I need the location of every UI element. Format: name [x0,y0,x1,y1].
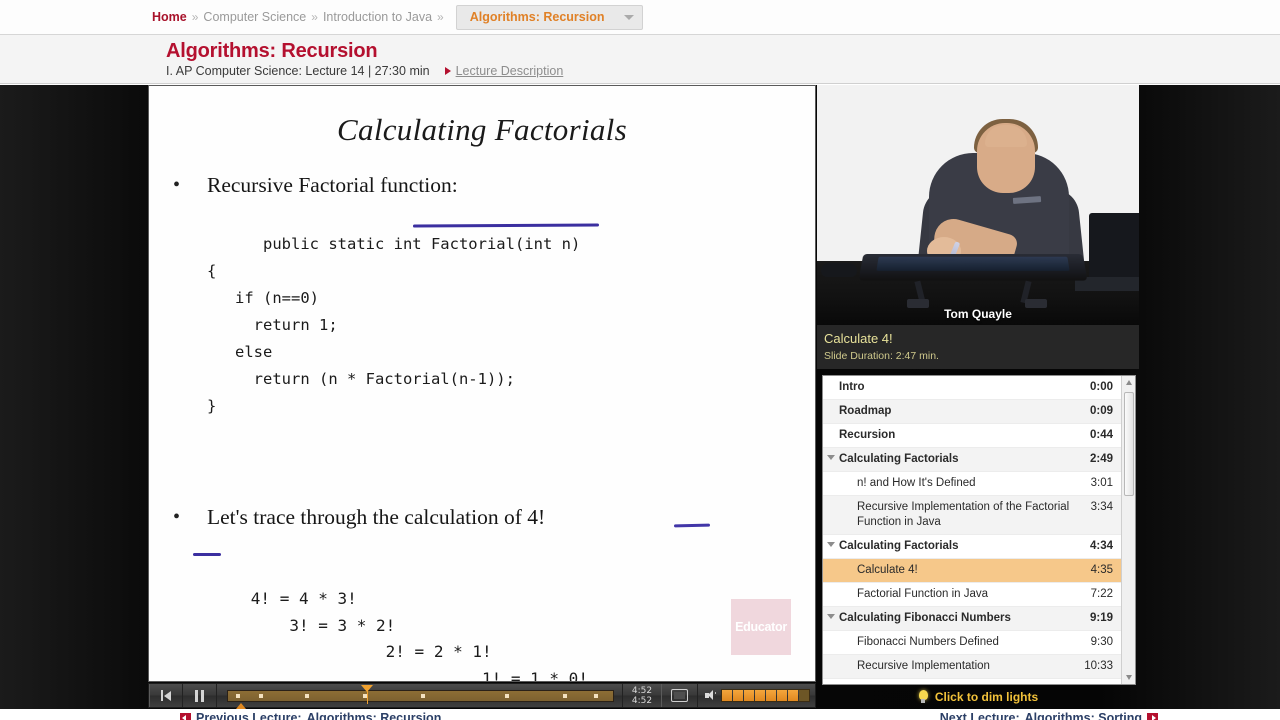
chapter-caret-placeholder [823,563,839,566]
time-display: 4:52 4:52 [622,684,662,707]
chevron-down-icon[interactable] [823,611,839,619]
chapter-time: 4:35 [1091,563,1113,578]
chapter-time: 0:44 [1090,428,1113,443]
chapter-time: 2:49 [1090,452,1113,467]
breadcrumb-separator: » [192,10,199,24]
chapter-time: 9:30 [1091,635,1113,650]
breadcrumb-item-home[interactable]: Home [152,10,187,24]
chapter-time: 10:44 [1084,683,1113,684]
current-time: 4:52 [632,686,652,696]
chapter-label: Calculate 4! [839,563,1085,578]
chapter-label: n! and How It's Defined [839,476,1085,491]
breadcrumb: Home » Computer Science » Introduction t… [152,0,643,35]
chapter-time: 3:01 [1091,476,1113,491]
fullscreen-icon [671,689,688,702]
slide-code-text: public static int Factorial(int n) { if … [207,235,580,415]
chapter-time: 0:09 [1090,404,1113,419]
chapter-label: Fibonacci Numbers Defined [839,635,1085,650]
page-title: Algorithms: Recursion [166,39,1280,63]
lightbulb-icon [918,690,929,704]
pause-button[interactable] [183,684,217,707]
chapter-row-n-factorial-defined[interactable]: n! and How It's Defined 3:01 [823,472,1121,496]
lecture-navigation-bar: Previous Lecture: Algorithms: Recursion … [0,709,1280,720]
slide-trace-block: 4! = 4 * 3! 3! = 3 * 2! 2! = 2 * 1! 1! =… [193,533,815,682]
volume-control[interactable] [698,689,815,702]
chapter-row-recursive-implementation-java[interactable]: Recursive Implementation of the Factoria… [823,496,1121,535]
chapter-time: 7:22 [1091,587,1113,602]
chapter-marker [563,694,567,698]
video-mouse [821,263,857,277]
slide-bullet-2-text: Let's trace through the calculation of 4… [207,504,545,530]
chapter-row-recursion[interactable]: Recursion 0:44 [823,424,1121,448]
chapter-label: Implementation in Java [839,683,1078,684]
chapter-row-implementation-in-java[interactable]: Implementation in Java 10:44 [823,679,1121,684]
playhead-stem [367,690,368,704]
chapter-row-factorial-function-java[interactable]: Factorial Function in Java 7:22 [823,583,1121,607]
breadcrumb-item-computer-science[interactable]: Computer Science [203,10,306,24]
chevron-down-icon[interactable] [823,452,839,460]
total-time: 4:52 [632,696,652,706]
breadcrumb-separator: » [437,10,444,24]
chapter-list-scrollbar[interactable] [1121,376,1135,684]
chevron-down-icon[interactable] [823,539,839,547]
rewind-button[interactable] [149,684,183,707]
chapter-label: Calculating Factorials [839,452,1084,467]
player-controls: 4:52 4:52 [148,683,816,708]
chapter-caret-placeholder [823,404,839,407]
pause-icon [195,690,204,702]
next-lecture-link[interactable]: Next Lecture: Algorithms: Sorting [940,711,1158,720]
slide-duration: Slide Duration: 2:47 min. [824,350,1139,362]
chapter-row-fibonacci-numbers-defined[interactable]: Fibonacci Numbers Defined 9:30 [823,631,1121,655]
slide-info-bar: Calculate 4! Slide Duration: 2:47 min. [817,325,1139,369]
speaker-icon[interactable] [705,690,716,701]
educator-watermark: Educator [731,599,791,655]
slide-title: Calculating Factorials [149,112,815,148]
next-lecture-target: Algorithms: Sorting [1025,711,1142,720]
breadcrumb-item-introduction-to-java[interactable]: Introduction to Java [323,10,432,24]
chapter-label: Roadmap [839,404,1084,419]
chapter-time: 9:19 [1090,611,1113,626]
chapter-time: 4:34 [1090,539,1113,554]
presenter-name: Tom Quayle [817,307,1139,321]
breadcrumb-active-tab[interactable]: Algorithms: Recursion [456,5,644,30]
chapter-caret-placeholder [823,683,839,684]
lecture-meta: I. AP Computer Science: Lecture 14 | 27:… [166,64,430,78]
chapter-marker [259,694,263,698]
slide-trace-text: 4! = 4 * 3! 3! = 3 * 2! 2! = 2 * 1! 1! =… [193,589,636,682]
chapter-label: Factorial Function in Java [839,587,1085,602]
lecture-subtitle-row: I. AP Computer Science: Lecture 14 | 27:… [166,64,1280,78]
video-drawing-tablet [859,254,1088,281]
bullet-dot-icon: • [173,504,207,530]
chevron-down-icon[interactable] [624,15,634,20]
slide-bullet-2: • Let's trace through the calculation of… [173,504,815,530]
chapter-label: Intro [839,380,1084,395]
chapter-label: Calculating Fibonacci Numbers [839,611,1084,626]
chapter-caret-placeholder [823,635,839,638]
chapter-row-intro[interactable]: Intro 0:00 [823,376,1121,400]
progress-bar-area[interactable] [217,684,622,707]
chapter-marker [421,694,425,698]
chapter-row-roadmap[interactable]: Roadmap 0:09 [823,400,1121,424]
loaded-marker-icon [236,703,246,709]
chapter-label: Recursive Implementation [839,659,1078,674]
chapter-row-recursive-implementation[interactable]: Recursive Implementation 10:33 [823,655,1121,679]
playhead-handle[interactable] [361,685,373,692]
video-laptop [1089,213,1139,285]
chapter-marker [305,694,309,698]
rewind-to-start-icon [161,690,171,701]
instructor-video[interactable]: Tom Quayle [817,85,1139,325]
previous-lecture-label: Previous Lecture: [196,711,302,720]
chapter-list[interactable]: Intro 0:00 Roadmap 0:09 Recursion 0:44 C… [823,376,1121,684]
handwritten-underline-trace [193,553,221,556]
arrow-left-icon [180,713,191,720]
slide-bullet-1-text: Recursive Factorial function: [207,172,458,198]
chapter-marker [594,694,598,698]
chapter-caret-placeholder [823,659,839,662]
handwritten-underline-signature [413,223,599,227]
previous-lecture-target: Algorithms: Recursion [307,711,442,720]
chapter-marker [236,694,240,698]
dim-lights-label: Click to dim lights [935,690,1038,704]
slide-panel[interactable]: Calculating Factorials • Recursive Facto… [148,85,816,682]
lecture-header: Algorithms: Recursion I. AP Computer Sci… [0,35,1280,84]
chapter-caret-placeholder [823,587,839,590]
bullet-dot-icon: • [173,172,207,198]
next-lecture-label: Next Lecture: [940,711,1020,720]
breadcrumb-active-tab-label: Algorithms: Recursion [470,10,605,24]
breadcrumb-separator: » [311,10,318,24]
scroll-down-arrow-icon[interactable] [1122,671,1135,684]
chapter-time: 10:33 [1084,659,1113,674]
scrollbar-thumb[interactable] [1124,392,1134,496]
slide-info-title: Calculate 4! [824,330,1139,347]
player-stage: Calculating Factorials • Recursive Facto… [0,85,1280,720]
fullscreen-button[interactable] [662,684,698,707]
slide-bullet-1: • Recursive Factorial function: [173,172,815,198]
lecture-description-link[interactable]: Lecture Description [456,64,564,78]
chapter-row-calculating-fibonacci-numbers[interactable]: Calculating Fibonacci Numbers 9:19 [823,607,1121,631]
dim-lights-button[interactable]: Click to dim lights [816,687,1140,707]
progress-track[interactable] [227,690,614,702]
chapter-row-calculating-factorials-1[interactable]: Calculating Factorials 2:49 [823,448,1121,472]
slide-code-block: public static int Factorial(int n) { if … [207,204,815,474]
play-triangle-icon [445,67,451,75]
scroll-up-arrow-icon[interactable] [1122,376,1135,389]
chapter-caret-placeholder [823,380,839,383]
chapter-label: Calculating Factorials [839,539,1084,554]
breadcrumb-bar: Home » Computer Science » Introduction t… [0,0,1280,35]
chapter-row-calculate-4-factorial[interactable]: Calculate 4! 4:35 [823,559,1121,583]
chapter-list-container: Intro 0:00 Roadmap 0:09 Recursion 0:44 C… [822,375,1136,685]
chapter-label: Recursive Implementation of the Factoria… [839,500,1085,530]
chapter-row-calculating-factorials-2[interactable]: Calculating Factorials 4:34 [823,535,1121,559]
chapter-marker [505,694,509,698]
volume-meter[interactable] [721,689,810,702]
chapter-label: Recursion [839,428,1084,443]
chapter-caret-placeholder [823,428,839,431]
previous-lecture-link[interactable]: Previous Lecture: Algorithms: Recursion [180,711,441,720]
arrow-right-icon [1147,713,1158,720]
chapter-time: 3:34 [1091,500,1113,515]
chapter-time: 0:00 [1090,380,1113,395]
chapter-caret-placeholder [823,476,839,479]
right-panel: Tom Quayle Calculate 4! Slide Duration: … [816,85,1140,702]
chapter-caret-placeholder [823,500,839,503]
educator-watermark-label: Educator [735,620,787,634]
